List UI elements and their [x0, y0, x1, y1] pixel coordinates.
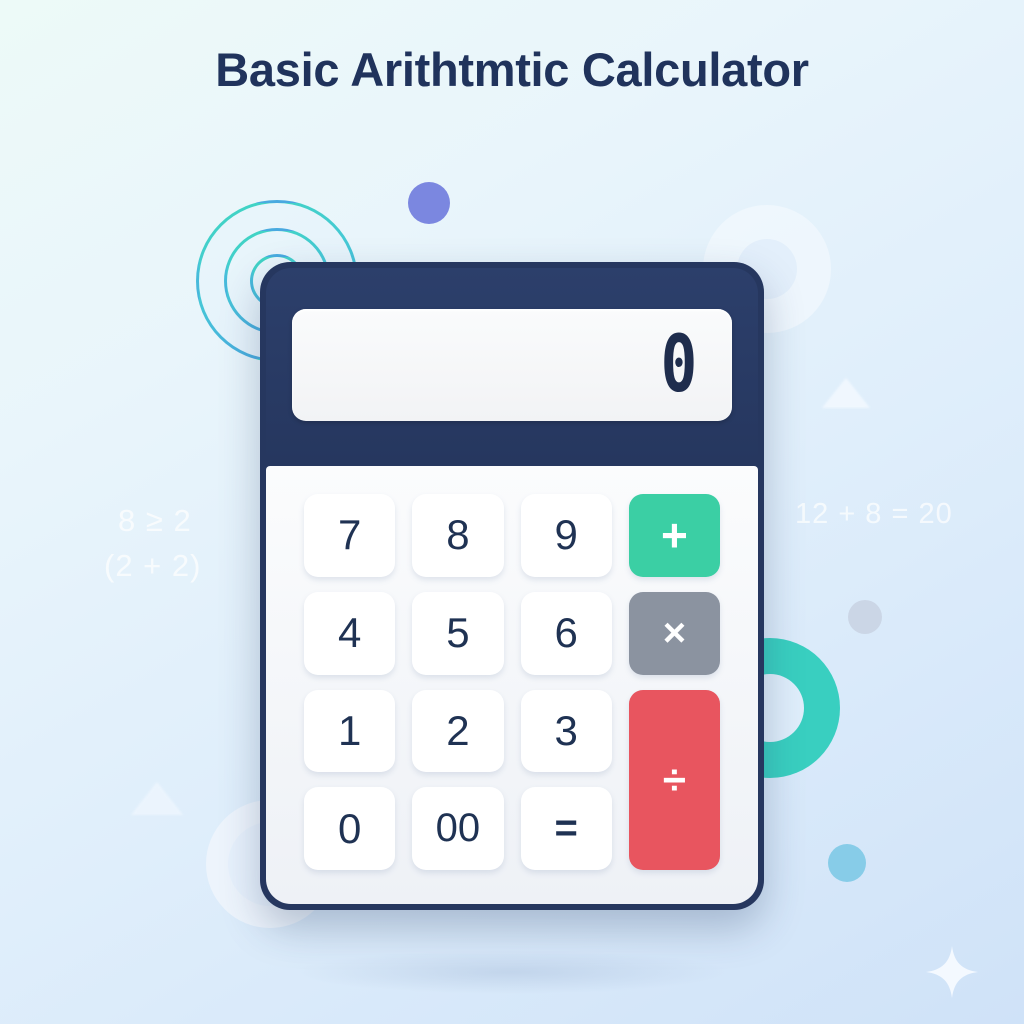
key-divide[interactable]: ÷ [629, 690, 720, 871]
display-value: 0 [661, 326, 701, 404]
key-8[interactable]: 8 [412, 494, 503, 577]
dot-blue-icon [828, 844, 866, 882]
triangle-right-icon [822, 378, 870, 408]
calculator-keypad-panel: 7 8 9 + 4 5 6 × 1 2 3 ÷ 0 00 = [266, 466, 758, 904]
calculator-display[interactable]: 0 [292, 309, 732, 421]
dot-purple-icon [408, 182, 450, 224]
key-plus[interactable]: + [629, 494, 720, 577]
triangle-left-icon [131, 782, 183, 815]
key-2[interactable]: 2 [412, 690, 503, 773]
calculator-drop-shadow [292, 950, 732, 994]
key-4[interactable]: 4 [304, 592, 395, 675]
key-5[interactable]: 5 [412, 592, 503, 675]
calculator-device: 0 7 8 9 + 4 5 6 × 1 2 3 ÷ 0 00 = [260, 262, 764, 910]
background-equation-left-1: 8 ≥ 2 [118, 503, 192, 539]
key-1[interactable]: 1 [304, 690, 395, 773]
calculator-top-panel: 0 [266, 268, 758, 462]
background-equation-right: 12 + 8 = 20 [795, 498, 953, 531]
key-double-zero[interactable]: 00 [412, 787, 503, 870]
key-7[interactable]: 7 [304, 494, 395, 577]
keypad: 7 8 9 + 4 5 6 × 1 2 3 ÷ 0 00 = [304, 494, 720, 870]
dot-grey-icon [848, 600, 882, 634]
page-title: Basic Arithtmtic Calculator [0, 42, 1024, 97]
key-0[interactable]: 0 [304, 787, 395, 870]
key-9[interactable]: 9 [521, 494, 612, 577]
key-equals[interactable]: = [521, 787, 612, 870]
background-equation-left-2: (2 + 2) [104, 548, 201, 584]
key-multiply[interactable]: × [629, 592, 720, 675]
key-3[interactable]: 3 [521, 690, 612, 773]
sparkle-icon [924, 944, 980, 1000]
key-6[interactable]: 6 [521, 592, 612, 675]
